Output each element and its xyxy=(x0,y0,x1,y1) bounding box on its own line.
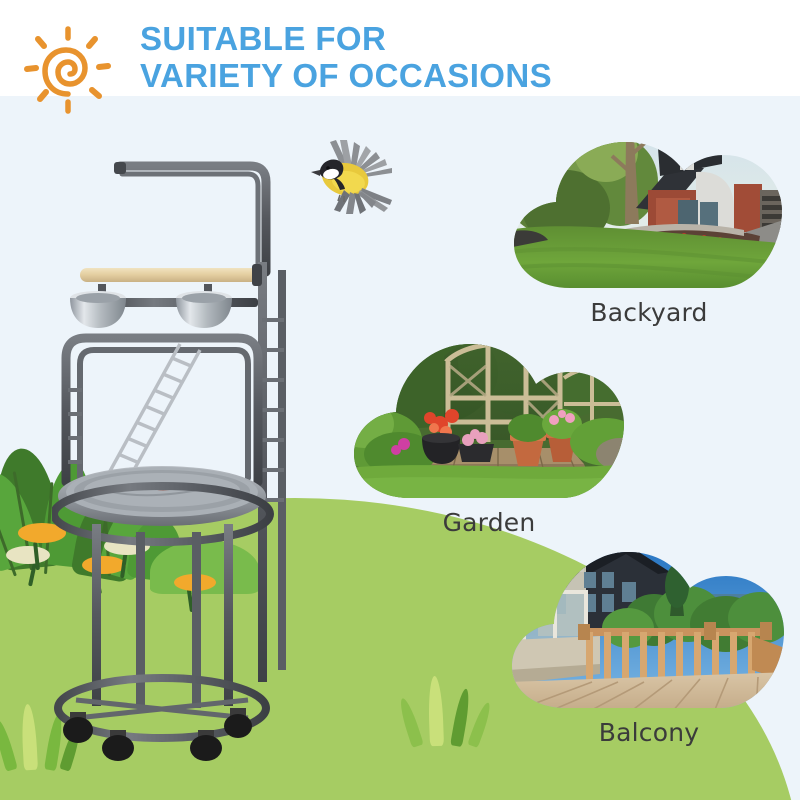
hanging-arm xyxy=(114,162,266,272)
product-parrot-play-stand xyxy=(52,152,332,762)
occasion-card-balcony[interactable]: Balcony xyxy=(508,532,790,747)
backyard-photo xyxy=(508,112,790,292)
round-tray xyxy=(54,466,270,542)
main-arch-frame xyxy=(66,338,258,482)
feeding-bowl-right xyxy=(176,291,232,328)
wooden-perch xyxy=(80,264,262,286)
occasion-label-balcony: Balcony xyxy=(508,718,790,747)
sun-spiral-icon xyxy=(22,22,114,114)
feeding-bowl-left xyxy=(70,291,126,328)
garden-photo xyxy=(348,322,630,502)
promo-banner: SUITABLE FOR VARIETY OF OCCASIONS xyxy=(0,0,800,800)
page-title: SUITABLE FOR VARIETY OF OCCASIONS xyxy=(140,20,552,94)
grass-tuft-center xyxy=(412,666,492,746)
occasion-card-backyard[interactable]: Backyard xyxy=(508,112,790,327)
balcony-photo xyxy=(508,532,790,712)
occasion-card-garden[interactable]: Garden xyxy=(348,322,630,537)
leg-frame xyxy=(58,524,266,738)
